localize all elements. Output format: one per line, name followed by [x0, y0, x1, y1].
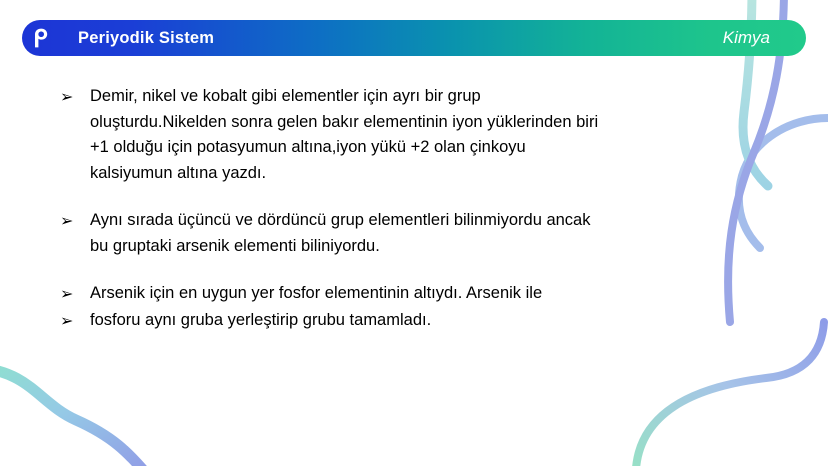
logo-badge	[26, 23, 56, 53]
bullet-text: Aynı sırada üçüncü ve dördüncü grup elem…	[90, 208, 780, 259]
subject-label: Kimya	[723, 28, 770, 48]
bullet-row: ➢ Demir, nikel ve kobalt gibi elementler…	[60, 84, 780, 186]
bullet-row: ➢ fosforu aynı gruba yerleştirip grubu t…	[60, 308, 780, 334]
bullet-group: ➢ Demir, nikel ve kobalt gibi elementler…	[60, 84, 780, 186]
page-title: Periyodik Sistem	[78, 29, 214, 48]
bullet-row: ➢ Arsenik için en uygun yer fosfor eleme…	[60, 281, 780, 307]
arrow-bullet-icon: ➢	[60, 208, 90, 234]
slide-canvas: Periyodik Sistem Kimya ➢ Demir, nikel ve…	[0, 0, 828, 466]
bullet-group: ➢ Arsenik için en uygun yer fosfor eleme…	[60, 281, 780, 333]
arrow-bullet-icon: ➢	[60, 281, 90, 307]
bullet-text: Arsenik için en uygun yer fosfor element…	[90, 281, 780, 307]
slide-body: ➢ Demir, nikel ve kobalt gibi elementler…	[60, 84, 780, 333]
arrow-bullet-icon: ➢	[60, 308, 90, 334]
bottom-left-wave-curve	[0, 368, 150, 466]
stylized-p-logo-icon	[28, 25, 54, 51]
bullet-text: fosforu aynı gruba yerleştirip grubu tam…	[90, 308, 780, 334]
bullet-row: ➢ Aynı sırada üçüncü ve dördüncü grup el…	[60, 208, 780, 259]
bullet-text: Demir, nikel ve kobalt gibi elementler i…	[90, 84, 780, 186]
bottom-right-arc-curve	[636, 322, 824, 466]
arrow-bullet-icon: ➢	[60, 84, 90, 110]
bullet-group: ➢ Aynı sırada üçüncü ve dördüncü grup el…	[60, 208, 780, 259]
slide-header-bar: Periyodik Sistem Kimya	[22, 20, 806, 56]
